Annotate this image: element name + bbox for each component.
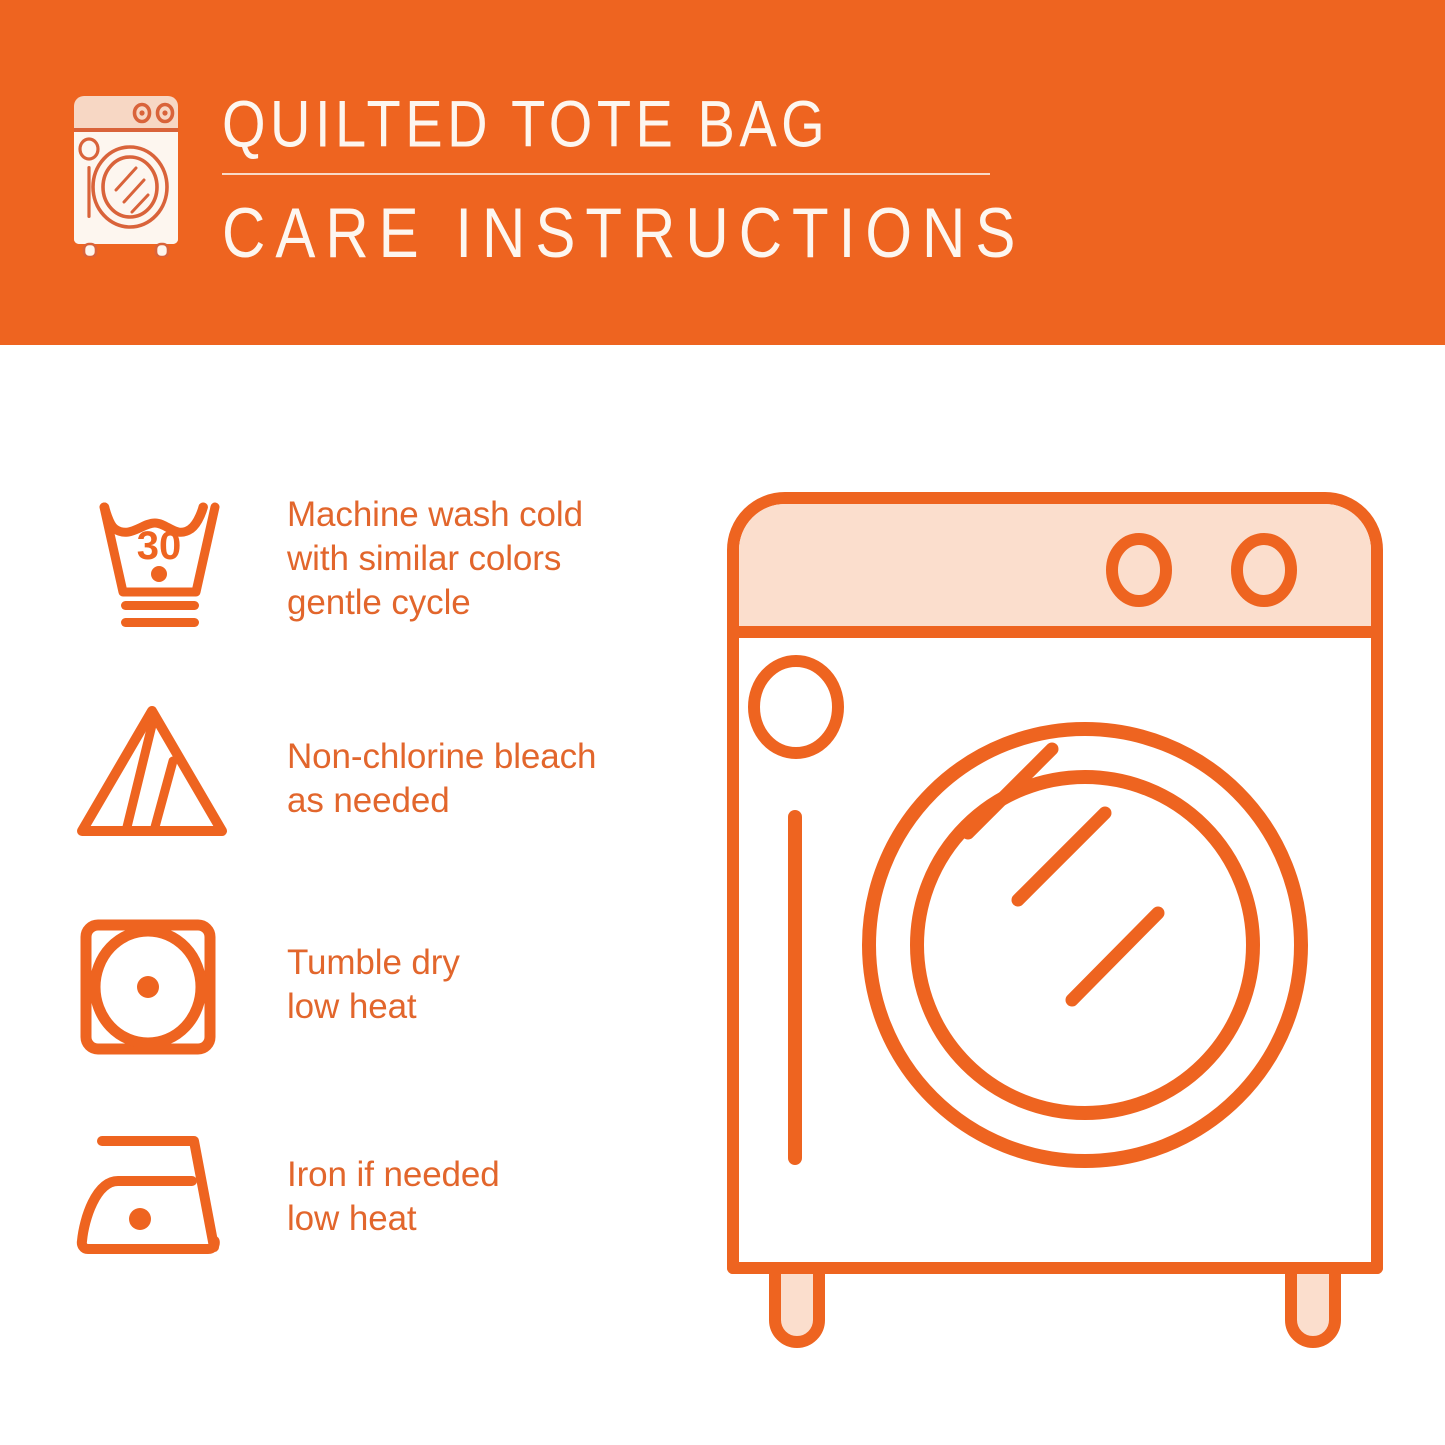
care-row-bleach: Non-chlorine bleach as needed xyxy=(70,699,690,911)
care-row-machine-wash: 30 Machine wash cold with similar colors… xyxy=(70,487,690,699)
header-banner: QUILTED TOTE BAG CARE INSTRUCTIONS xyxy=(0,0,1445,345)
page-title: QUILTED TOTE BAG xyxy=(222,90,1025,157)
iron-low-heat-icon xyxy=(70,1123,235,1273)
title-divider xyxy=(222,173,990,175)
svg-text:30: 30 xyxy=(137,524,182,568)
washing-machine-icon xyxy=(62,92,190,257)
washing-machine-illustration xyxy=(715,480,1395,1370)
care-label-bleach: Non-chlorine bleach as needed xyxy=(235,699,596,823)
care-label-iron: Iron if needed low heat xyxy=(235,1123,500,1241)
care-row-iron: Iron if needed low heat xyxy=(70,1123,690,1335)
care-label-tumble-dry: Tumble dry low heat xyxy=(235,911,460,1029)
care-instruction-list: 30 Machine wash cold with similar colors… xyxy=(70,487,690,1335)
washer-leg-right xyxy=(1291,1268,1335,1342)
header-title-group: QUILTED TOTE BAG CARE INSTRUCTIONS xyxy=(222,86,1025,258)
washer-control-panel xyxy=(739,504,1371,632)
page-subtitle: CARE INSTRUCTIONS xyxy=(222,197,1025,269)
care-instructions-page: QUILTED TOTE BAG CARE INSTRUCTIONS 30 xyxy=(0,0,1445,1445)
care-label-machine-wash: Machine wash cold with similar colors ge… xyxy=(235,487,583,625)
machine-wash-30-gentle-icon: 30 xyxy=(70,487,235,637)
washer-vertical-line xyxy=(788,810,802,1165)
non-chlorine-bleach-triangle-icon xyxy=(70,699,235,849)
washer-leg-left xyxy=(775,1268,819,1342)
care-row-tumble-dry: Tumble dry low heat xyxy=(70,911,690,1123)
tumble-dry-low-icon xyxy=(70,911,235,1061)
header-content: QUILTED TOTE BAG CARE INSTRUCTIONS xyxy=(62,86,1025,258)
